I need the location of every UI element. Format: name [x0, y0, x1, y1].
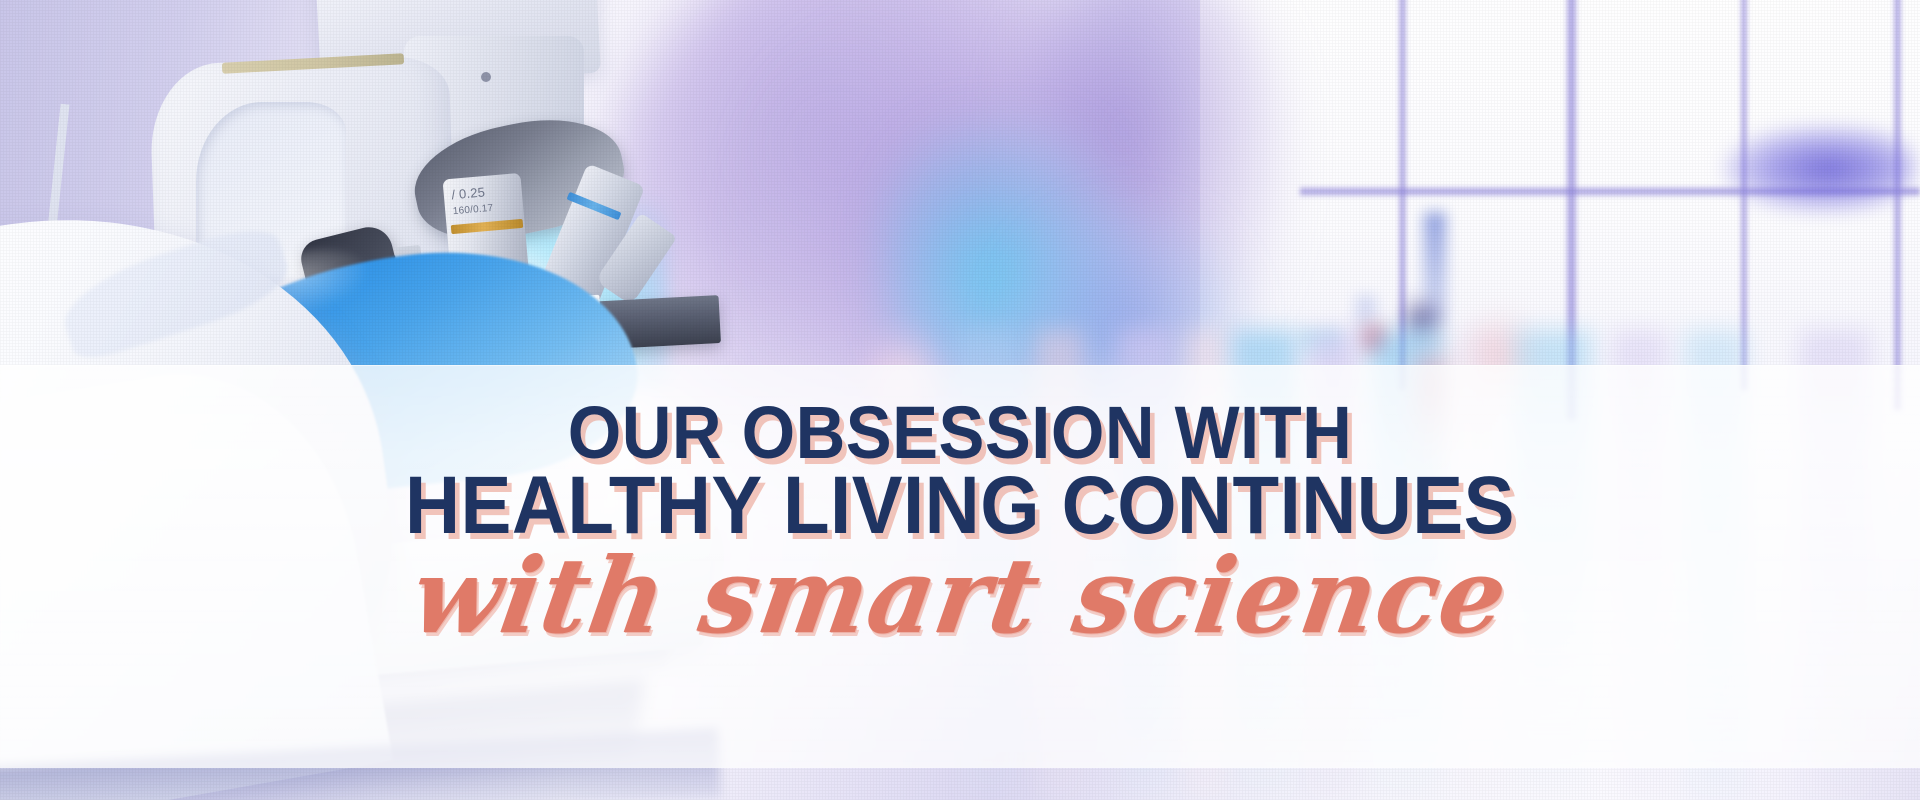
blurred-instrument [1724, 126, 1914, 212]
hero-text-block: OUR OBSESSION WITH HEALTHY LIVING CONTIN… [0, 400, 1920, 648]
microscope-screw [481, 72, 491, 82]
headline: OUR OBSESSION WITH HEALTHY LIVING CONTIN… [67, 400, 1853, 542]
window-mullion-vertical [1893, 0, 1902, 410]
headline-script-line: with smart science [11, 544, 1909, 648]
band-top-edge [0, 365, 1920, 366]
headline-line-1: OUR OBSESSION WITH [67, 400, 1853, 467]
hero-banner: / 0.25 160/0.17 OUR OBSESSION WITH [0, 0, 1920, 800]
headline-line-2: HEALTHY LIVING CONTINUES [67, 469, 1853, 543]
